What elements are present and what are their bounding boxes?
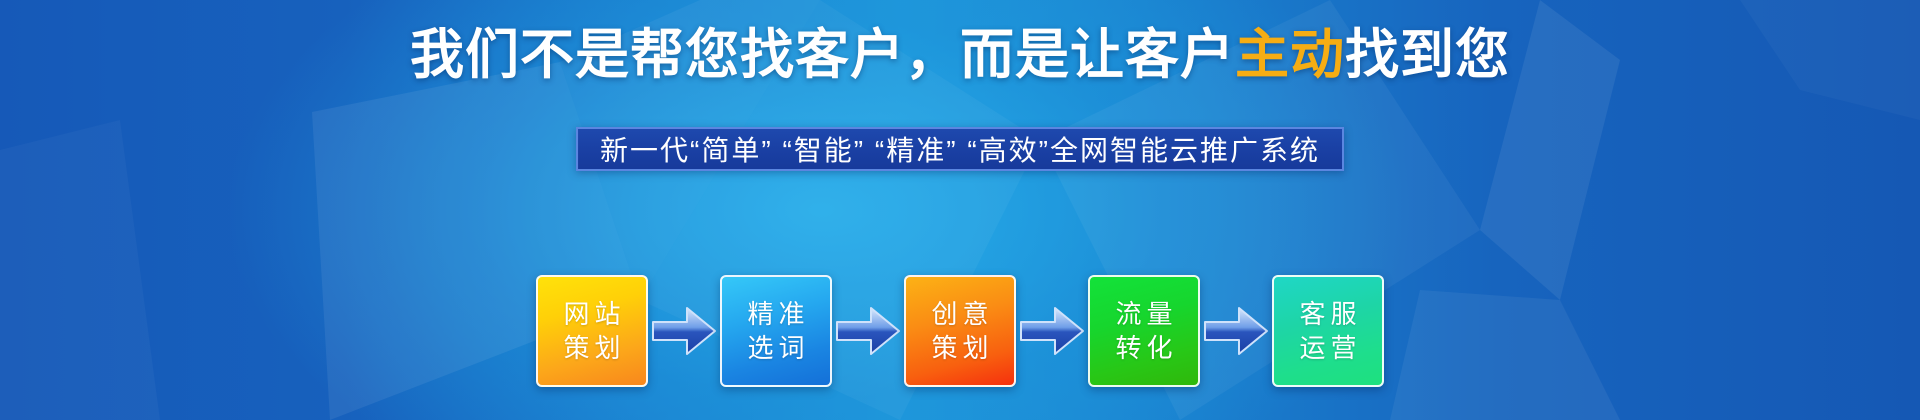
step-4-line-2: 转化: [1110, 331, 1177, 365]
promo-banner: 我们不是帮您找客户，而是让客户主动找到您 新一代“简单” “智能” “精准” “…: [0, 0, 1920, 420]
headline-part-3: 找到您: [1345, 25, 1510, 85]
step-box-5[interactable]: 客服 运营: [1272, 275, 1384, 387]
step-2-line-1: 精准: [742, 297, 809, 331]
step-box-4[interactable]: 流量 转化: [1088, 275, 1200, 387]
arrow-gap-2: [832, 305, 904, 357]
headline-accent: 主动: [1235, 25, 1345, 85]
step-3-line-2: 策划: [926, 331, 993, 365]
step-box-3[interactable]: 创意 策划: [904, 275, 1016, 387]
arrow-gap-1: [648, 305, 720, 357]
headline: 我们不是帮您找客户，而是让客户主动找到您: [0, 22, 1920, 88]
step-2-line-2: 选词: [742, 331, 809, 365]
process-flow: 网站 策划 精准 选词: [536, 275, 1384, 387]
arrow-gap-3: [1016, 305, 1088, 357]
right-arrow-icon: [1203, 305, 1269, 357]
step-5-line-1: 客服: [1294, 297, 1361, 331]
step-3-line-1: 创意: [926, 297, 993, 331]
step-box-2[interactable]: 精准 选词: [720, 275, 832, 387]
subtitle-text: 新一代“简单” “智能” “精准” “高效”全网智能云推广系统: [600, 135, 1320, 166]
step-4-line-1: 流量: [1110, 297, 1177, 331]
step-1-line-1: 网站: [558, 297, 625, 331]
right-arrow-icon: [651, 305, 717, 357]
headline-part-1: 我们不是帮您找客户，而是让客户: [410, 25, 1235, 85]
step-5-line-2: 运营: [1294, 331, 1361, 365]
right-arrow-icon: [1019, 305, 1085, 357]
step-box-1[interactable]: 网站 策划: [536, 275, 648, 387]
subtitle-bar: 新一代“简单” “智能” “精准” “高效”全网智能云推广系统: [576, 127, 1344, 171]
arrow-gap-4: [1200, 305, 1272, 357]
step-1-line-2: 策划: [558, 331, 625, 365]
right-arrow-icon: [835, 305, 901, 357]
